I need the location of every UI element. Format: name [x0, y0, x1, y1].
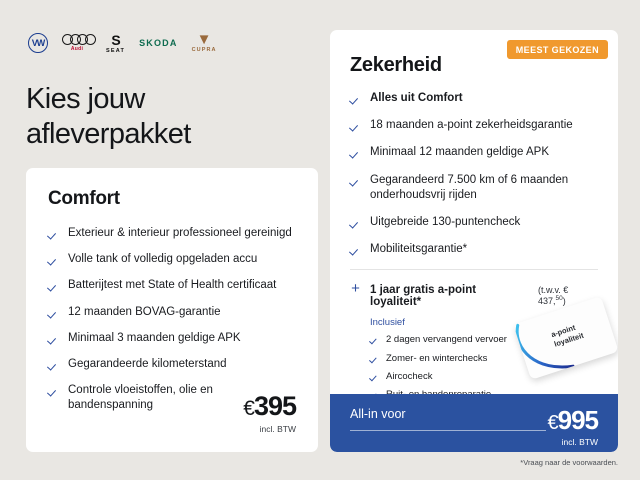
price-value: 995 [558, 405, 598, 435]
allin-wrapper: All-in voor [350, 407, 547, 431]
list-item: Gegarandeerde kilometerstand [48, 357, 298, 372]
loyalty-card-image: a-point loyaliteit [513, 296, 618, 380]
page-title: Kies jouw afleverpakket [26, 82, 316, 153]
check-icon [370, 372, 379, 381]
list-item: 12 maanden BOVAG-garantie [48, 305, 298, 320]
check-icon [350, 244, 361, 255]
list-item: Gegarandeerd 7.500 km of 6 maanden onder… [350, 173, 600, 203]
skoda-logo-icon: SKODA [139, 38, 178, 48]
zekerheid-package-card[interactable]: MEEST GEKOZEN Zekerheid Alles uit Comfor… [330, 30, 618, 452]
comfort-card-title: Comfort [48, 188, 318, 210]
feature-text: Exterieur & interieur professioneel gere… [68, 226, 292, 241]
promo-page: VW Audi S SEAT SKODA ▼ CUPRA Kies jouw a… [0, 0, 640, 480]
check-icon [48, 359, 59, 370]
seat-logo-icon: S SEAT [106, 33, 125, 54]
comfort-feature-list: Exterieur & interieur professioneel gere… [48, 226, 298, 413]
feature-text: Mobiliteitsgarantie* [370, 242, 467, 257]
audi-logo-icon: Audi [62, 34, 92, 52]
feature-text: Minimaal 3 maanden geldige APK [68, 331, 241, 346]
currency-symbol: € [547, 412, 557, 434]
feature-text: 18 maanden a-point zekerheidsgarantie [370, 118, 573, 133]
status-badge: MEEST GEKOZEN [507, 40, 608, 59]
zekerheid-price-bar: All-in voor €995 incl. BTW [330, 394, 618, 452]
check-icon [48, 280, 59, 291]
feature-text: Uitgebreide 130-puntencheck [370, 215, 520, 230]
loyalty-title: 1 jaar gratis a-point loyaliteit* [370, 284, 529, 308]
feature-text: Minimaal 12 maanden geldige APK [370, 145, 549, 160]
cupra-logo-icon: ▼ CUPRA [192, 33, 217, 54]
feature-text: 12 maanden BOVAG-garantie [68, 305, 221, 320]
feature-text: Batterijtest met State of Health certifi… [68, 278, 276, 293]
check-icon [48, 333, 59, 344]
comfort-price-note: incl. BTW [243, 424, 296, 434]
allin-label: All-in voor [350, 407, 547, 421]
check-icon [350, 175, 361, 186]
page-title-line-2: afleverpakket [26, 117, 316, 152]
list-item: 18 maanden a-point zekerheidsgarantie [350, 118, 600, 133]
feature-text: 2 dagen vervangend vervoer [386, 334, 507, 346]
disclaimer-text: *Vraag naar de voorwaarden. [520, 458, 618, 467]
list-item: Alles uit Comfort [350, 91, 600, 106]
brand-logo-row: VW Audi S SEAT SKODA ▼ CUPRA [28, 30, 217, 56]
section-divider [350, 269, 598, 270]
loyalty-header: + 1 jaar gratis a-point loyaliteit* (t.w… [350, 283, 598, 308]
zekerheid-feature-list: Alles uit Comfort 18 maanden a-point zek… [350, 91, 600, 257]
comfort-price-block: €395 incl. BTW [243, 393, 296, 434]
list-item: Aircocheck [370, 371, 598, 383]
check-icon [48, 385, 59, 396]
cupra-logo-label: CUPRA [192, 47, 217, 53]
loyalty-section: + 1 jaar gratis a-point loyaliteit* (t.w… [350, 283, 598, 401]
feature-text: Zomer- en winterchecks [386, 353, 487, 365]
seat-logo-label: SEAT [106, 48, 125, 54]
check-icon [350, 120, 361, 131]
list-item: Minimaal 3 maanden geldige APK [48, 331, 298, 346]
zekerheid-price-note: incl. BTW [547, 437, 598, 447]
feature-text: Volle tank of volledig opgeladen accu [68, 252, 257, 267]
check-icon [350, 147, 361, 158]
feature-text: Aircocheck [386, 371, 432, 383]
list-item: Mobiliteitsgarantie* [350, 242, 600, 257]
volkswagen-logo-icon: VW [28, 33, 48, 53]
comfort-price: €395 [243, 393, 296, 420]
page-title-line-1: Kies jouw [26, 82, 316, 117]
zekerheid-price: €995 [547, 407, 598, 433]
feature-text: Gegarandeerde kilometerstand [68, 357, 227, 372]
comfort-package-card[interactable]: Comfort Exterieur & interieur profession… [26, 168, 318, 452]
currency-symbol: € [243, 397, 254, 420]
check-icon [350, 217, 361, 228]
list-item: Batterijtest met State of Health certifi… [48, 278, 298, 293]
allin-rule [350, 430, 546, 431]
audi-logo-label: Audi [71, 46, 83, 52]
list-item: Volle tank of volledig opgeladen accu [48, 252, 298, 267]
vw-logo-label: VW [32, 39, 45, 48]
loyalty-value-suffix: ) [563, 296, 566, 306]
feature-text: Gegarandeerd 7.500 km of 6 maanden onder… [370, 173, 600, 203]
list-item: Uitgebreide 130-puntencheck [350, 215, 600, 230]
price-value: 395 [254, 391, 296, 421]
check-icon [370, 354, 379, 363]
list-item: Minimaal 12 maanden geldige APK [350, 145, 600, 160]
skoda-logo-label: SKODA [139, 38, 178, 48]
list-item: Exterieur & interieur professioneel gere… [48, 226, 298, 241]
check-icon [48, 254, 59, 265]
feature-text: Alles uit Comfort [370, 91, 463, 106]
check-icon [48, 307, 59, 318]
check-icon [48, 228, 59, 239]
loyalty-value-cents: 50 [555, 295, 562, 302]
zekerheid-price-block: €995 incl. BTW [547, 407, 598, 447]
check-icon [370, 335, 379, 344]
check-icon [350, 93, 361, 104]
plus-icon: + [350, 283, 361, 294]
